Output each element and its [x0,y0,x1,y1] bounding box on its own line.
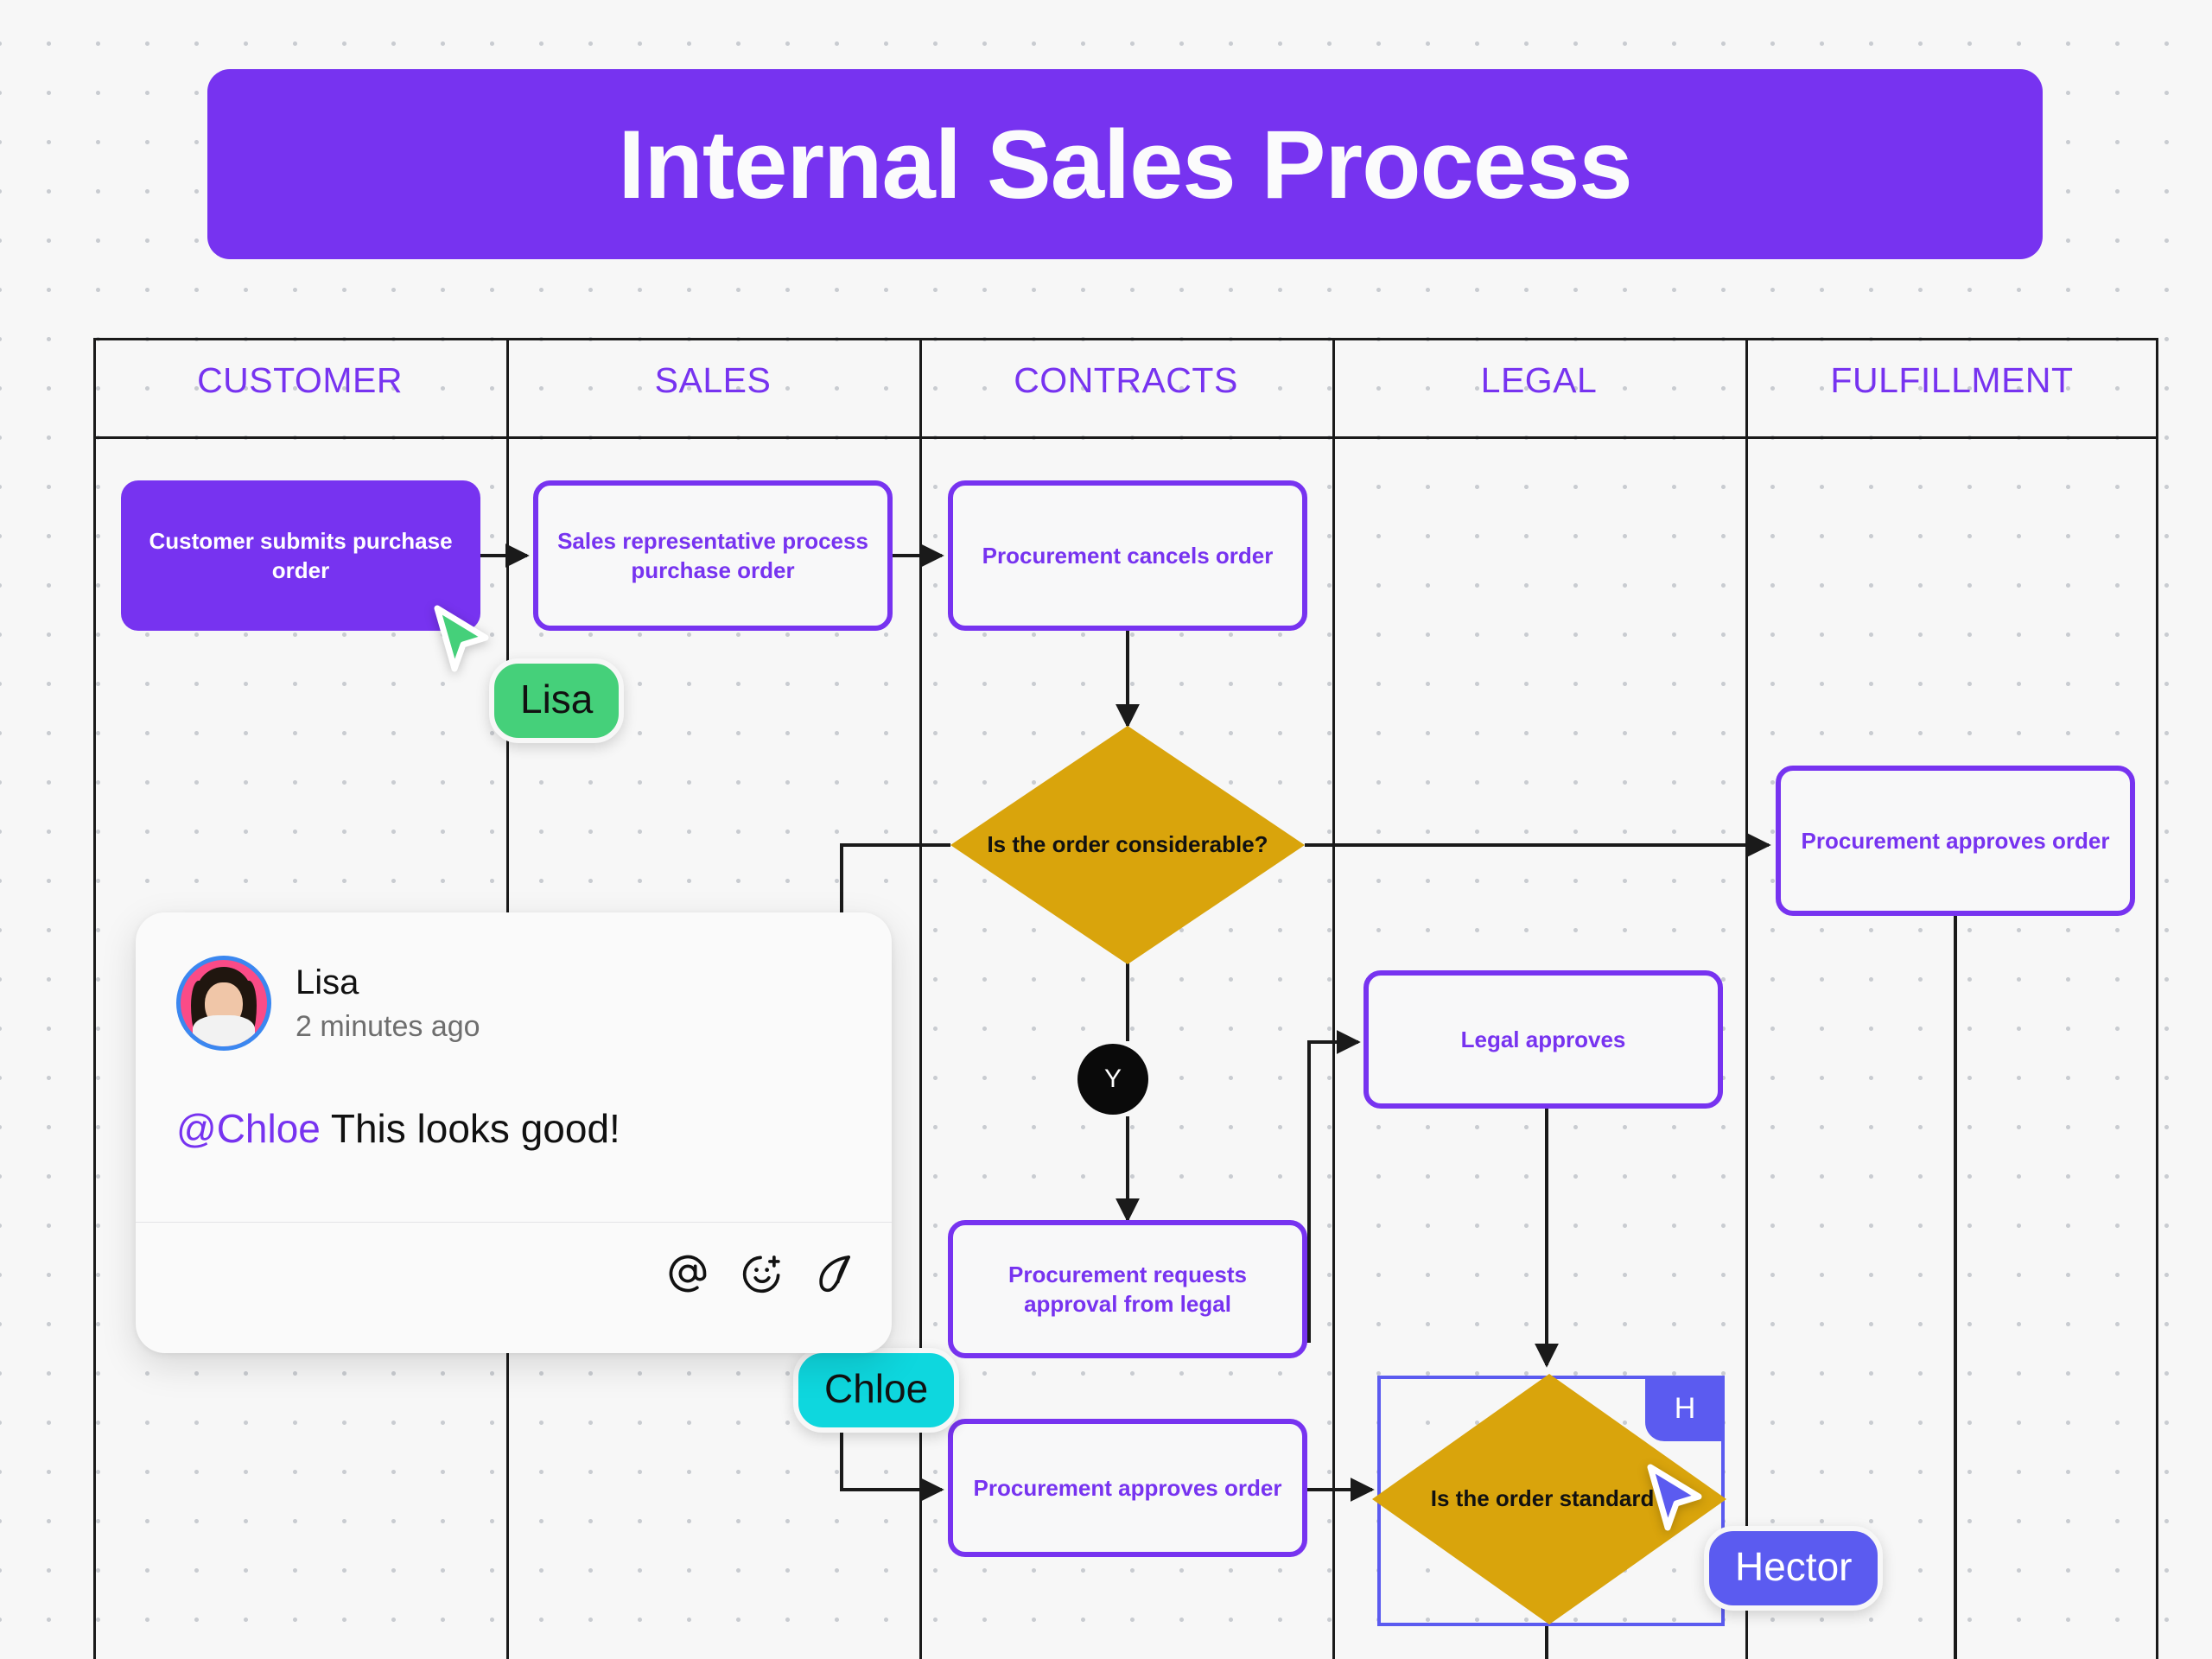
decision-branch-yes-badge[interactable]: Y [1077,1044,1148,1115]
comment-mention[interactable]: @Chloe [176,1106,321,1151]
node-is-order-considerable[interactable]: Is the order considerable? [950,726,1305,964]
cursor-hector [1643,1462,1707,1545]
comment-card[interactable]: Lisa 2 minutes ago @Chloe This looks goo… [136,912,892,1353]
avatar-body [193,1015,255,1050]
emoji-add-icon[interactable] [740,1251,785,1296]
avatar [176,956,271,1051]
comment-meta: Lisa 2 minutes ago [296,963,480,1044]
node-procurement-cancels-order[interactable]: Procurement cancels order [948,480,1307,631]
node-sales-representative-process[interactable]: Sales representative process purchase or… [533,480,893,631]
comment-actions [665,1251,859,1296]
comment-header: Lisa 2 minutes ago [176,956,480,1051]
node-procurement-approves-order-contracts[interactable]: Procurement approves order [948,1419,1307,1557]
node-customer-submits-purchase-order[interactable]: Customer submits purchase order [121,480,480,631]
cursor-label-hector: Hector [1704,1526,1883,1611]
comment-author: Lisa [296,963,480,1001]
node-procurement-approves-order-fulfillment[interactable]: Procurement approves order [1776,766,2135,916]
mention-icon[interactable] [665,1251,710,1296]
cursor-label-chloe: Chloe [793,1348,959,1433]
comment-timestamp: 2 minutes ago [296,1010,480,1044]
comment-message: This looks good! [331,1106,620,1151]
cursor-name-chloe: Chloe [824,1366,928,1411]
decision-branch-yes-label: Y [1104,1065,1122,1094]
diamond-label: Is the order considerable? [950,726,1305,964]
comment-divider [136,1222,892,1223]
whiteboard-canvas[interactable]: Internal Sales Process CUSTOMER SALES CO… [0,0,2212,1659]
cursor-lisa [430,603,494,686]
cursor-name-lisa: Lisa [520,677,593,721]
node-procurement-requests-approval-from-legal[interactable]: Procurement requests approval from legal [948,1220,1307,1358]
cursor-label-lisa: Lisa [489,658,624,743]
cursor-name-hector: Hector [1735,1544,1852,1589]
comment-body: @Chloe This looks good! [176,1104,620,1154]
node-legal-approves[interactable]: Legal approves [1363,970,1723,1109]
attachment-icon[interactable] [814,1251,859,1296]
